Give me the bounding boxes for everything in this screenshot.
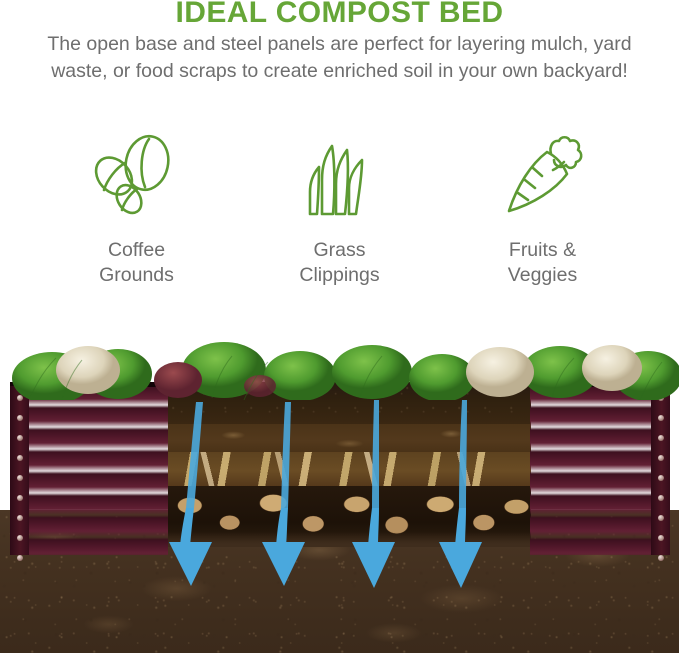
feature-label-coffee-grounds: Coffee Grounds: [99, 238, 174, 288]
water-arrow: [352, 400, 395, 588]
feature-label-fruits-veggies: Fruits & Veggies: [508, 238, 577, 288]
feature-item-fruits-veggies: Fruits & Veggies: [441, 132, 644, 288]
raised-bed-cutaway-image: cutaway illustration of a raised garden …: [0, 330, 679, 653]
page-title: IDEAL COMPOST BED: [0, 0, 679, 31]
compost-material-list: Coffee Grounds Grass Clippings: [0, 132, 679, 302]
coffee-beans-icon: [89, 132, 185, 224]
page-subtitle: The open base and steel panels are perfe…: [40, 31, 639, 85]
feature-item-coffee-grounds: Coffee Grounds: [35, 132, 238, 288]
product-feature-panel: IDEAL COMPOST BED The open base and stee…: [0, 0, 679, 653]
feature-label-grass-clippings: Grass Clippings: [299, 238, 379, 288]
water-arrow: [169, 402, 212, 586]
feature-item-grass-clippings: Grass Clippings: [238, 132, 441, 288]
grass-blades-icon: [292, 132, 388, 224]
water-arrow: [262, 402, 305, 586]
water-drainage-arrows: [0, 330, 679, 653]
carrot-icon: [495, 132, 591, 224]
water-arrow: [439, 400, 482, 588]
